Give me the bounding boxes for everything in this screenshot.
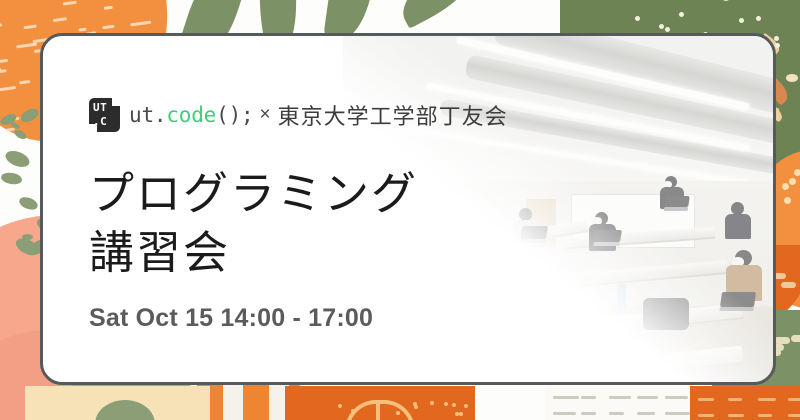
utcode-logo-icon: UT .C	[89, 98, 120, 132]
poster-card: UT .C ut.code(); × 東京大学工学部丁友会 プログラミング 講習…	[40, 33, 776, 385]
orange-band-bottom-right	[690, 386, 800, 420]
logo-notch-top	[112, 97, 121, 106]
leaf-shape-top-4	[391, 0, 489, 29]
event-poster: UT .C ut.code(); × 東京大学工学部丁友会 プログラミング 講習…	[0, 0, 800, 420]
event-date: Sat Oct 15 14:00 - 17:00	[89, 304, 373, 333]
brand-name: ut.code();	[129, 103, 253, 127]
logo-top-text: UT	[93, 101, 107, 114]
brand-suffix: ();	[216, 103, 253, 127]
orange-band-bottom	[285, 386, 475, 420]
cream-band-bottom	[25, 386, 210, 420]
brand-highlight: code	[166, 103, 216, 127]
cross-symbol-icon: ×	[259, 104, 270, 126]
title-line-2: 講習会	[89, 223, 418, 282]
title-line-1: プログラミング	[89, 164, 418, 223]
organization-name: 東京大学工学部丁友会	[278, 99, 508, 131]
white-band-bottom	[545, 386, 695, 420]
brand-prefix: ut.	[129, 103, 166, 127]
page-title: プログラミング 講習会	[89, 164, 418, 283]
brand-line: UT .C ut.code(); × 東京大学工学部丁友会	[89, 98, 508, 132]
logo-notch-bottom	[88, 124, 97, 133]
